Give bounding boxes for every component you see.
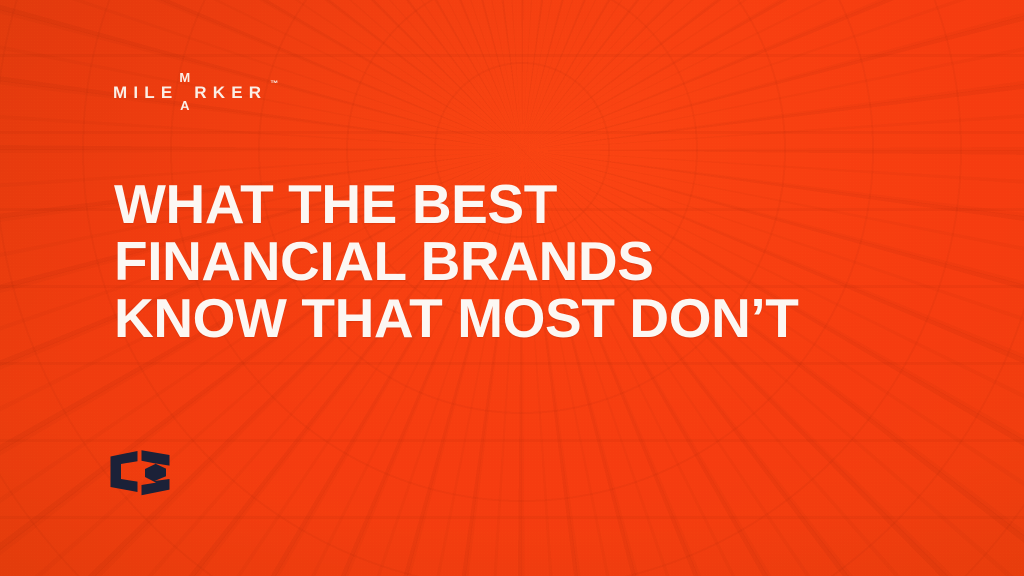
wordmark-part-two: RKER <box>194 84 267 101</box>
wordmark-part-one: MILE <box>113 84 178 101</box>
mile-marker-wordmark: MILE M A RKER ™ <box>113 78 278 106</box>
wordmark-stacked-monogram: M A <box>179 78 190 106</box>
trademark-icon: ™ <box>270 79 278 88</box>
headline-line-1: WHAT THE BEST <box>114 176 994 233</box>
title-slide: MILE M A RKER ™ WHAT THE BEST FINANCIAL … <box>0 0 1024 576</box>
wordmark-stacked-a: A <box>180 99 189 113</box>
c3-logo-icon <box>108 448 172 498</box>
wordmark-stacked-m: M <box>179 71 190 85</box>
page-title: WHAT THE BEST FINANCIAL BRANDS KNOW THAT… <box>114 176 994 347</box>
headline-line-3: KNOW THAT MOST DON’T <box>114 290 994 347</box>
headline-line-2: FINANCIAL BRANDS <box>114 233 994 290</box>
